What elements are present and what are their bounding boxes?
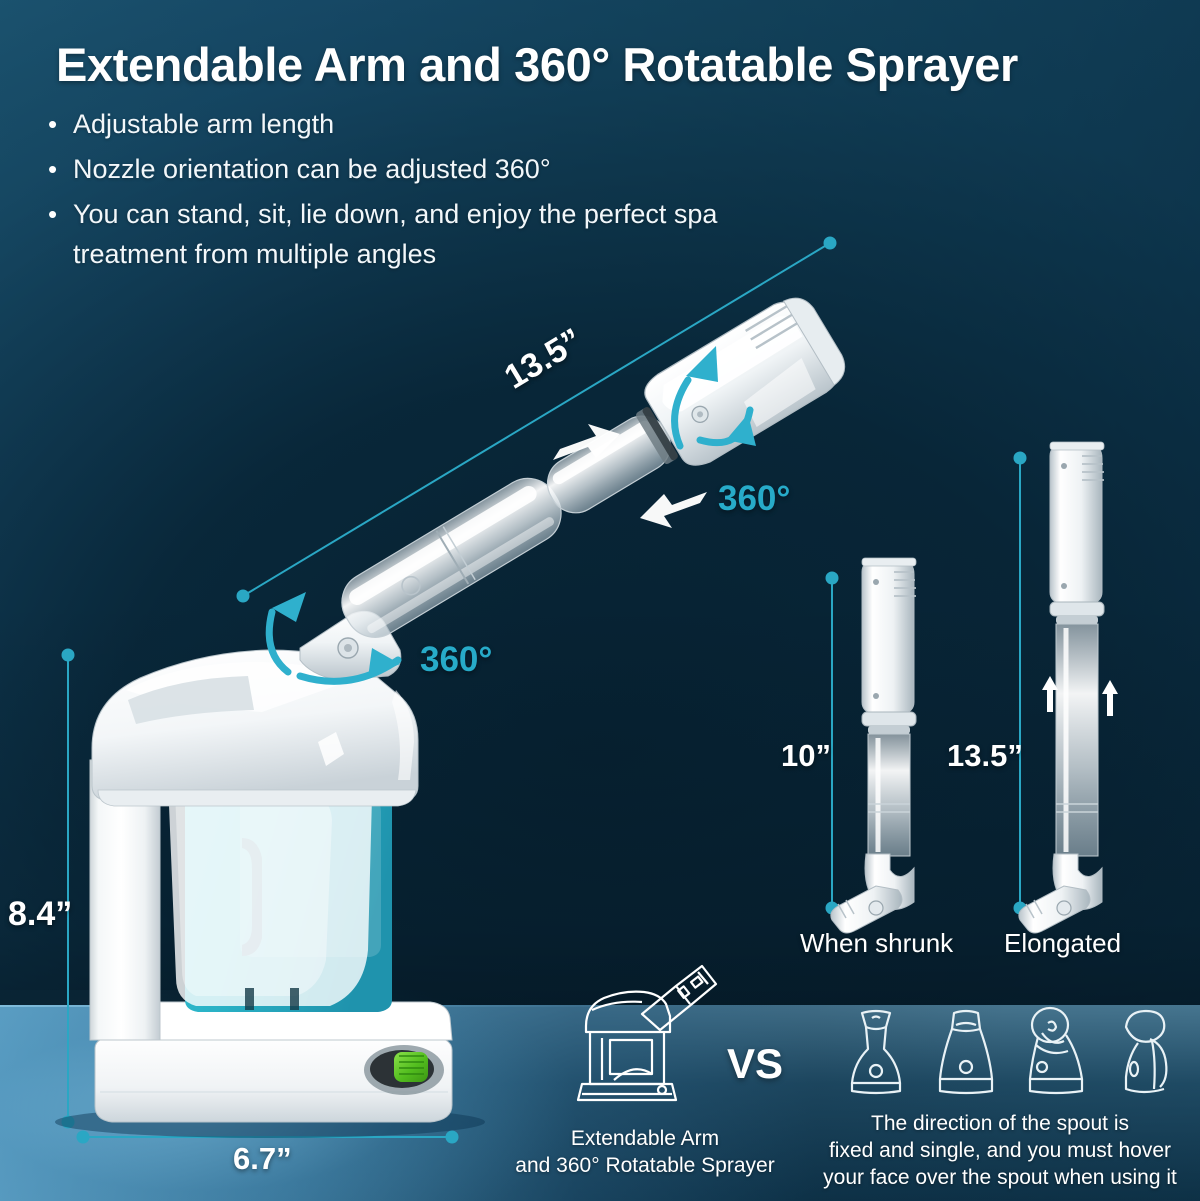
- nozzle-elongated-illustration: [1019, 442, 1118, 933]
- caption-elongated: Elongated: [1004, 928, 1121, 959]
- comparison-right-caption-line2: fixed and single, and you must hover: [800, 1137, 1200, 1164]
- feature-bullet-list: • Adjustable arm length • Nozzle orienta…: [48, 104, 808, 279]
- vs-label: VS: [727, 1040, 783, 1088]
- bullet-dot-icon: •: [48, 104, 73, 144]
- rotation-arrows-bottom: [269, 612, 398, 681]
- list-item: • Adjustable arm length: [48, 104, 808, 144]
- steamer-icon-cone: [928, 1005, 1004, 1097]
- rotation-label-arm: 360°: [420, 640, 492, 680]
- dimension-label-arm-length: 13.5”: [498, 321, 589, 397]
- list-item-label: You can stand, sit, lie down, and enjoy …: [73, 194, 773, 274]
- extend-up-arrows: [1042, 676, 1118, 716]
- comparison-right-caption-line1: The direction of the spout is: [800, 1110, 1200, 1137]
- power-switch: [394, 1052, 428, 1082]
- dimension-label-elongated: 13.5”: [947, 738, 1023, 774]
- comparison-right-caption-line3: your face over the spout when using it: [800, 1164, 1200, 1191]
- dimension-label-width: 6.7”: [233, 1141, 292, 1177]
- rotation-arrowheads-top: [686, 346, 756, 446]
- dimension-label-height: 8.4”: [8, 895, 72, 934]
- conventional-steamer-icons: [838, 1005, 1190, 1097]
- bullet-dot-icon: •: [48, 194, 73, 234]
- comparison-left-caption: Extendable Arm and 360° Rotatable Spraye…: [500, 1125, 790, 1179]
- rotation-arrows-top: [675, 380, 750, 446]
- comparison-right-caption: The direction of the spout is fixed and …: [800, 1110, 1200, 1191]
- comparison-left-caption-line2: and 360° Rotatable Sprayer: [500, 1152, 790, 1179]
- list-item-label: Adjustable arm length: [73, 104, 334, 144]
- product-infographic: Extendable Arm and 360° Rotatable Spraye…: [0, 0, 1200, 1201]
- main-steamer-unit: [55, 650, 485, 1138]
- extend-arrows: [553, 424, 707, 528]
- bullet-dot-icon: •: [48, 149, 73, 189]
- list-item: • Nozzle orientation can be adjusted 360…: [48, 149, 808, 189]
- nozzle-shrunk-illustration: [831, 558, 916, 933]
- caption-when-shrunk: When shrunk: [800, 928, 953, 959]
- steamer-icon-profile: [1108, 1005, 1184, 1097]
- list-item: • You can stand, sit, lie down, and enjo…: [48, 194, 808, 274]
- steamer-icon-slim: [838, 1005, 914, 1097]
- page-title: Extendable Arm and 360° Rotatable Spraye…: [56, 37, 1018, 92]
- dimension-label-shrunk: 10”: [781, 738, 831, 774]
- rotation-arrowheads-bottom: [272, 592, 400, 678]
- steamer-icon-tilted: [1018, 1005, 1094, 1097]
- product-outline-icon: [556, 962, 746, 1112]
- rotation-label-nozzle: 360°: [718, 479, 790, 519]
- comparison-left-caption-line1: Extendable Arm: [500, 1125, 790, 1152]
- list-item-label: Nozzle orientation can be adjusted 360°: [73, 149, 551, 189]
